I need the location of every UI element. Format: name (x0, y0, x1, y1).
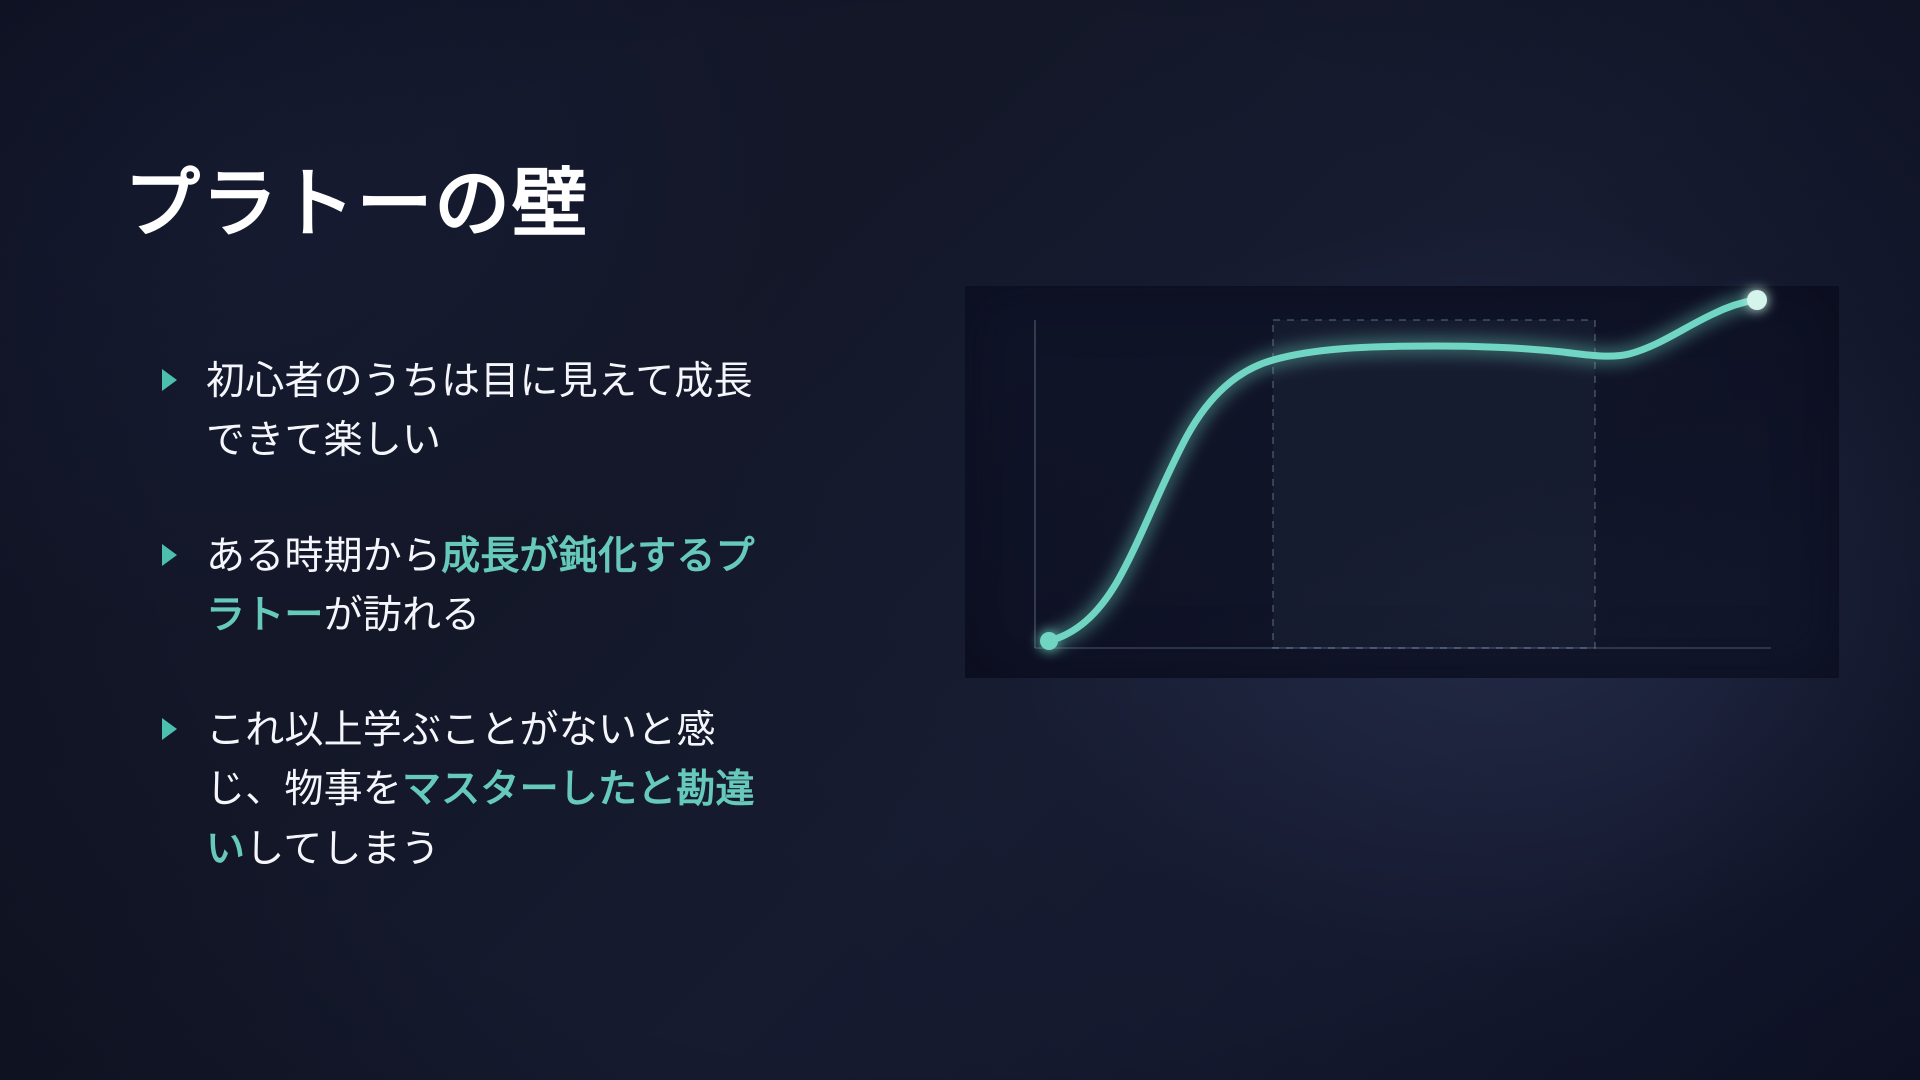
slide-root: プラトーの壁 初心者のうちは目に見えて成長できて楽しい ある時期から成長が鈍化す… (0, 0, 1920, 1080)
bullet-text: ある時期から成長が鈍化するプラトーが訪れる (206, 527, 786, 646)
bullet-list: 初心者のうちは目に見えて成長できて楽しい ある時期から成長が鈍化するプラトーが訪… (160, 352, 920, 879)
growth-curve-chart (965, 286, 1839, 678)
bullet-segment: が訪れる (324, 593, 481, 638)
triangle-right-icon (160, 366, 182, 392)
list-item: これ以上学ぶことがないと感じ、物事をマスターしたと勘違いしてしまう (160, 701, 920, 879)
plateau-band (1273, 320, 1595, 648)
chart-svg (965, 286, 1839, 678)
bullet-text: 初心者のうちは目に見えて成長できて楽しい (206, 352, 786, 471)
page-title: プラトーの壁 (124, 163, 589, 245)
start-point-marker (1040, 632, 1058, 650)
bullet-segment: ある時期から (206, 534, 441, 579)
bullet-text: これ以上学ぶことがないと感じ、物事をマスターしたと勘違いしてしまう (206, 701, 786, 879)
bullet-segment: 初心者のうちは目に見えて成長できて楽しい (206, 359, 753, 463)
list-item: 初心者のうちは目に見えて成長できて楽しい (160, 352, 920, 471)
triangle-right-icon (160, 541, 182, 567)
triangle-right-icon (160, 715, 182, 741)
end-point-marker (1747, 290, 1767, 310)
bullet-segment: してしまう (245, 827, 440, 872)
list-item: ある時期から成長が鈍化するプラトーが訪れる (160, 527, 920, 646)
